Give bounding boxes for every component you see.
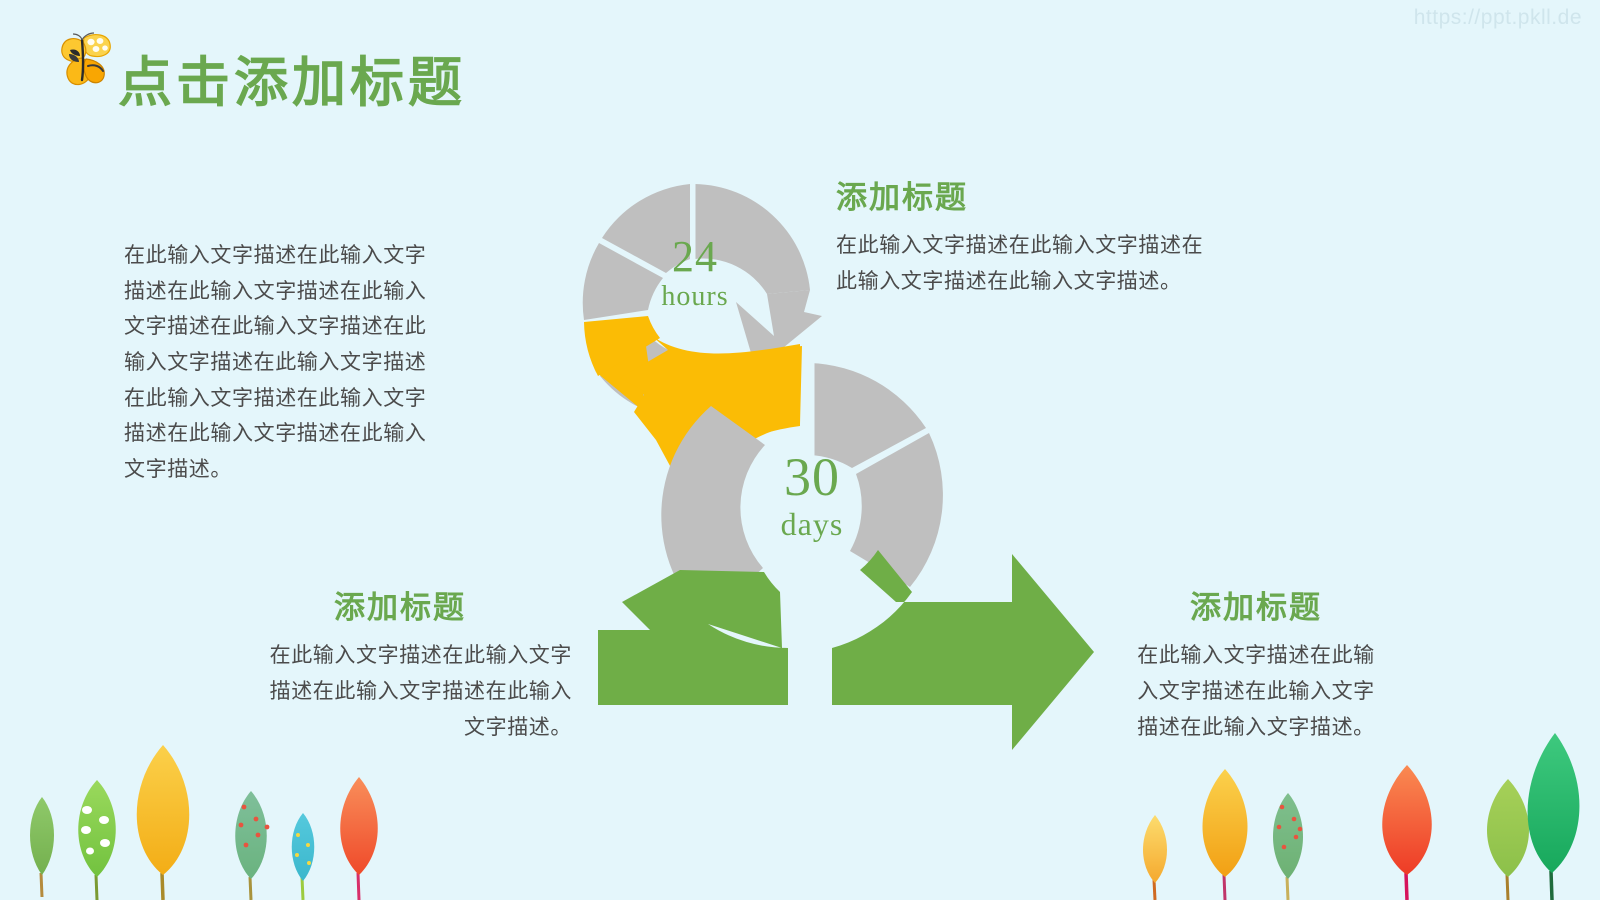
green-outcome-arrow — [598, 550, 1094, 750]
plant-orange-leaf — [340, 777, 378, 900]
decorative-plants-right — [1100, 725, 1600, 900]
block-bottom-left-title: 添加标题 — [228, 582, 572, 627]
text-line: 描述在此输入文字描述在此输入 — [228, 673, 572, 709]
plant-lime-leaf-flowers — [78, 780, 116, 900]
text-line: 在此输入文字描述在此输入文字 — [228, 637, 572, 673]
plant-lime-leaf — [1487, 779, 1529, 900]
text-line: 输入文字描述在此输入文字描述 — [124, 345, 464, 381]
block-top-right-body: 在此输入文字描述在此输入文字描述在 此输入文字描述在此输入文字描述。 — [836, 227, 1256, 299]
butterfly-icon — [58, 30, 114, 92]
upper-ring-segment-top-right — [695, 184, 810, 294]
text-line: 描述在此输入文字描述在此输入 — [124, 416, 464, 452]
block-top-right-title: 添加标题 — [836, 172, 1256, 217]
decorative-plants-left — [0, 725, 400, 900]
text-line: 在此输入文字描述在此输入文字 — [124, 238, 464, 274]
left-description-block: 在此输入文字描述在此输入文字 描述在此输入文字描述在此输入 文字描述在此输入文字… — [124, 238, 464, 488]
green-arrow-right-block — [832, 550, 1094, 750]
plant-teal-leaf-berries — [235, 791, 269, 900]
plant-teal-leaf-berries — [1273, 793, 1303, 900]
watermark-url: https://ppt.pkll.de — [1414, 6, 1582, 30]
text-line: 在此输入文字描述在此输入文字 — [124, 381, 464, 417]
text-line: 描述在此输入文字描述在此输入 — [124, 274, 464, 310]
text-line: 入文字描述在此输入文字 — [1118, 673, 1394, 709]
block-bottom-right-title: 添加标题 — [1118, 582, 1394, 627]
green-arrow-left-block — [598, 570, 788, 705]
plant-yellow-leaf — [1203, 769, 1248, 900]
text-line: 在此输入文字描述在此输 — [1118, 637, 1394, 673]
text-line: 文字描述在此输入文字描述在此 — [124, 309, 464, 345]
plant-yellow-small-leaf — [1143, 815, 1167, 900]
block-top-right: 添加标题 在此输入文字描述在此输入文字描述在 此输入文字描述在此输入文字描述。 — [836, 172, 1256, 299]
text-line: 文字描述。 — [124, 452, 464, 488]
slide-header: 点击添加标题 — [58, 28, 466, 114]
block-bottom-left: 添加标题 在此输入文字描述在此输入文字 描述在此输入文字描述在此输入 文字描述。 — [228, 582, 572, 745]
left-description-text: 在此输入文字描述在此输入文字 描述在此输入文字描述在此输入 文字描述在此输入文字… — [124, 238, 464, 488]
plant-yellow-leaf — [137, 745, 190, 900]
block-bottom-right: 添加标题 在此输入文字描述在此输 入文字描述在此输入文字 描述在此输入文字描述。 — [1118, 582, 1394, 745]
page-title: 点击添加标题 — [118, 52, 466, 114]
plant-green-leaf — [1528, 733, 1580, 900]
plant-cyan-leaf — [292, 813, 315, 900]
text-line: 在此输入文字描述在此输入文字描述在 — [836, 227, 1256, 263]
plant-orange-leaf — [1382, 765, 1432, 900]
plant-green-leaf — [30, 797, 54, 897]
text-line: 此输入文字描述在此输入文字描述。 — [836, 263, 1256, 299]
